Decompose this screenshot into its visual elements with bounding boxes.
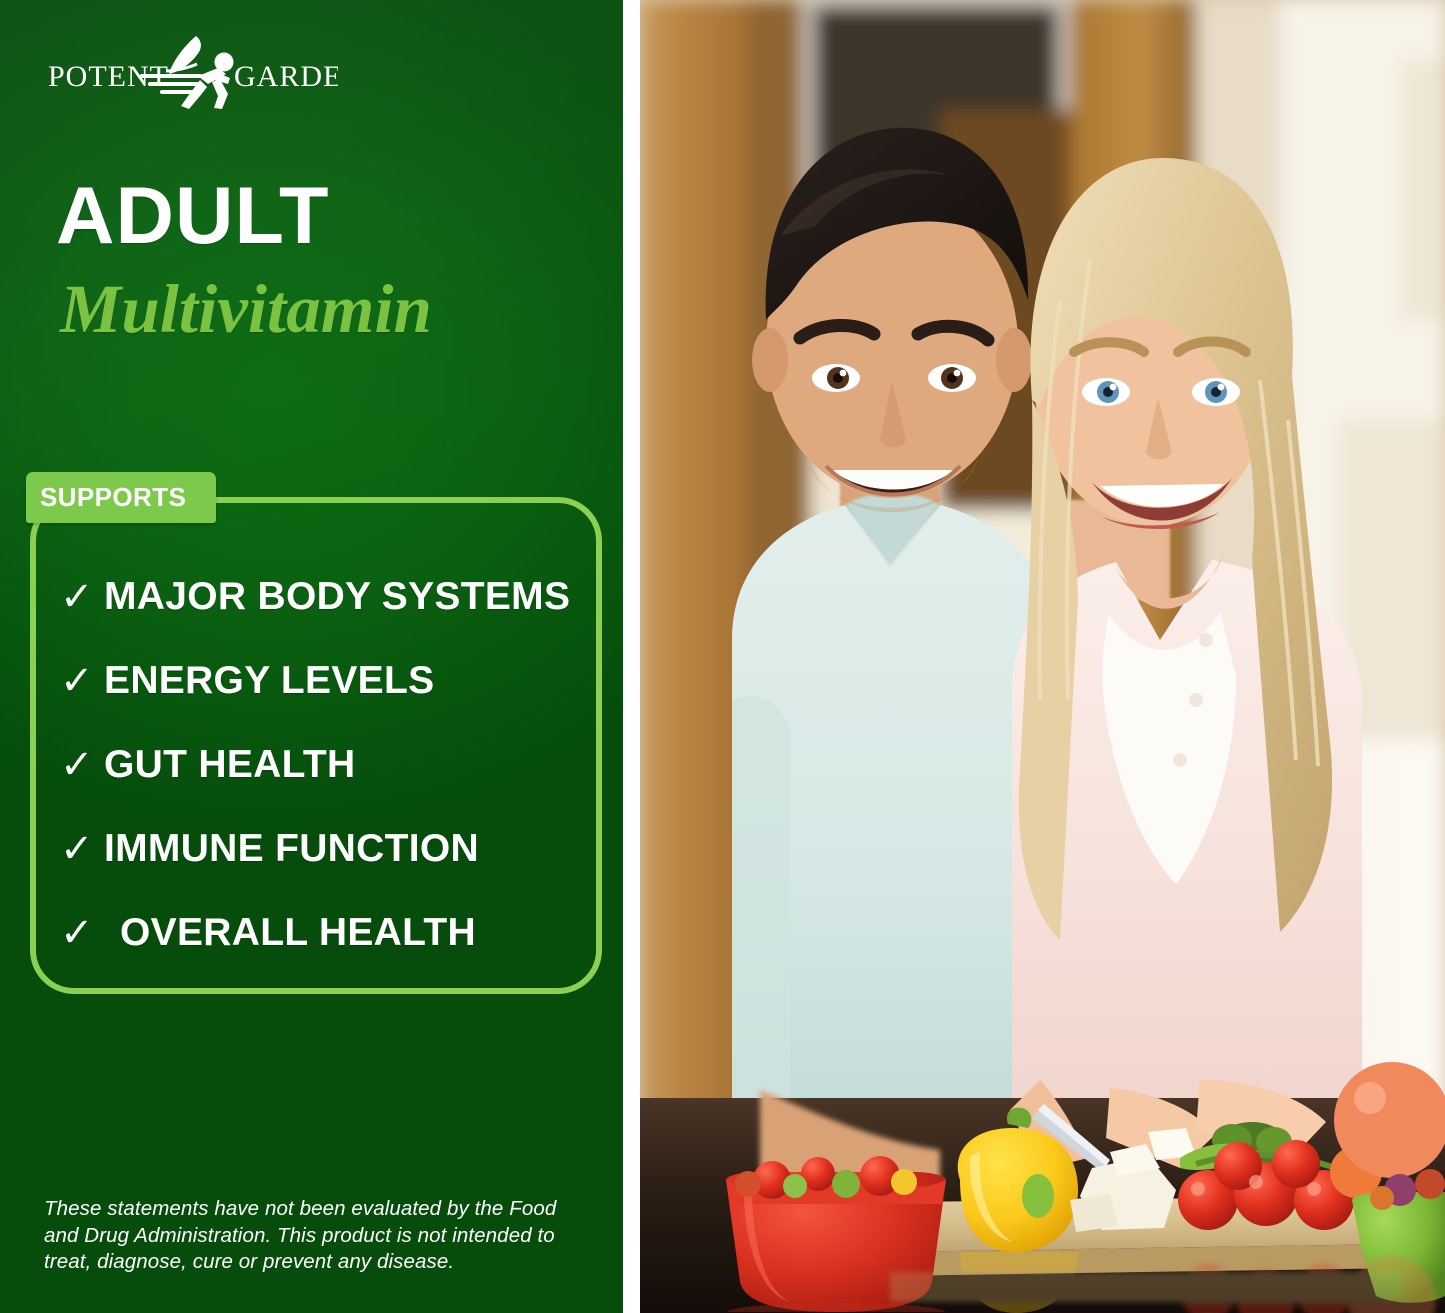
left-green-panel: POTENT GARDEN ADULT Multivitamin SUPPORT…: [0, 0, 623, 1313]
brand-logo: POTENT GARDEN: [48, 30, 338, 110]
logo-word-potent: POTENT: [48, 60, 169, 93]
check-icon: ✓: [60, 661, 104, 701]
benefit-label: GUT HEALTH: [104, 743, 355, 787]
supports-badge-label: SUPPORTS: [26, 482, 186, 513]
fda-disclaimer: These statements have not been evaluated…: [44, 1196, 564, 1276]
product-title: ADULT: [56, 176, 329, 257]
check-icon: ✓: [60, 745, 104, 785]
benefit-item-energy-levels: ✓ ENERGY LEVELS: [60, 639, 600, 723]
benefit-label: IMMUNE FUNCTION: [104, 827, 479, 871]
benefit-item-overall-health: ✓ OVERALL HEALTH: [60, 891, 600, 975]
logo-word-garden: GARDEN: [234, 60, 338, 93]
benefit-label: OVERALL HEALTH: [104, 911, 476, 955]
check-icon: ✓: [60, 829, 104, 869]
benefit-item-major-body-systems: ✓ MAJOR BODY SYSTEMS: [60, 555, 600, 639]
large-tomato: [1334, 1062, 1445, 1178]
panel-photo-separator: [623, 0, 640, 1313]
logo-wordmark: POTENT GARDEN: [48, 30, 338, 110]
check-icon: ✓: [60, 577, 104, 617]
kitchen-couple-illustration: [640, 0, 1445, 1313]
product-listing-image: POTENT GARDEN ADULT Multivitamin SUPPORT…: [0, 0, 1445, 1313]
product-subtitle: Multivitamin: [60, 275, 432, 344]
supports-badge: SUPPORTS: [26, 472, 216, 523]
benefit-label: MAJOR BODY SYSTEMS: [104, 575, 570, 619]
counter-and-food: [640, 1062, 1445, 1313]
tomato-highlight: [1354, 1082, 1386, 1114]
check-icon: ✓: [60, 913, 104, 953]
benefit-label: ENERGY LEVELS: [104, 659, 434, 703]
benefit-item-gut-health: ✓ GUT HEALTH: [60, 723, 600, 807]
supports-benefit-list: ✓ MAJOR BODY SYSTEMS ✓ ENERGY LEVELS ✓ G…: [60, 555, 600, 975]
lifestyle-photo: [640, 0, 1445, 1313]
benefit-item-immune-function: ✓ IMMUNE FUNCTION: [60, 807, 600, 891]
